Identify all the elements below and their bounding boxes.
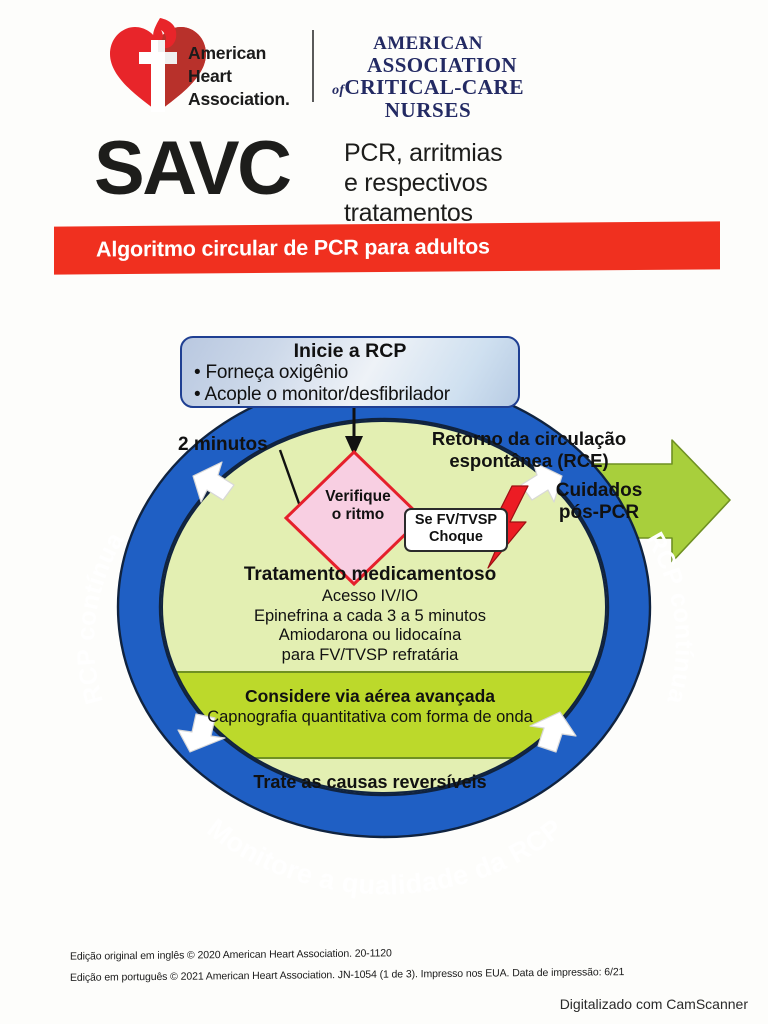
shock-line-2: Choque (404, 529, 508, 546)
start-cpr-bullet-1: • Forneça oxigênio (194, 362, 348, 384)
shock-line-1: Se FV/TVSP (404, 512, 508, 529)
section-banner-label: Algoritmo circular de PCR para adultos (96, 234, 490, 262)
advanced-airway-block: Considere via aérea avançada Capnografia… (184, 686, 556, 727)
advanced-airway-line-1: Capnografia quantitativa com forma de on… (184, 707, 556, 727)
aha-wordmark-line-1: American (188, 42, 290, 65)
aacn-line-3-text: CRITICAL-CARE (344, 75, 524, 99)
start-cpr-bullet-2: • Acople o monitor/desfibrilador (194, 384, 450, 406)
logo-divider (312, 30, 314, 102)
aha-wordmark: American Heart Association. (188, 42, 290, 111)
aacn-line-4: NURSES (328, 99, 528, 121)
aacn-line-3: ofCRITICAL-CARE (328, 76, 528, 99)
page-title: SAVC (94, 131, 290, 207)
rosc-label-line-1: Retorno da circulação (404, 428, 654, 450)
rosc-label: Retorno da circulação espontânea (RCE) (404, 428, 654, 472)
footer-copyright-line-1: Edição original em inglês © 2020 America… (70, 947, 392, 962)
drug-therapy-title: Tratamento medicamentoso (184, 564, 556, 587)
page-subtitle: PCR, arritmias e respectivos tratamentos (344, 138, 502, 228)
start-cpr-title: Inicie a RCP (180, 340, 520, 363)
reversible-causes-block: Trate as causas reversíveis (184, 772, 556, 793)
drug-therapy-line-4: para FV/TVSP refratária (184, 646, 556, 666)
reversible-causes-title: Trate as causas reversíveis (184, 772, 556, 793)
check-rhythm-label: Verifique o ritmo (298, 488, 418, 525)
two-minutes-label: 2 minutos (178, 434, 268, 456)
page-subtitle-line-1: PCR, arritmias (344, 138, 502, 168)
aacn-line-1: AMERICAN (328, 34, 528, 54)
drug-therapy-block: Tratamento medicamentoso Acesso IV/IO Ep… (184, 564, 556, 666)
circular-algorithm-diagram: RCP contínua RCP contínua Monitore a qua… (0, 300, 768, 920)
post-cardiac-arrest-care-label: Cuidados pós-PCR (524, 480, 674, 524)
drug-therapy-line-3: Amiodarona ou lidocaína (184, 626, 556, 646)
drug-therapy-line-1: Acesso IV/IO (184, 587, 556, 607)
logo-band: American Heart Association. AMERICAN ASS… (0, 0, 768, 128)
aacn-wordmark: AMERICAN ASSOCIATION ofCRITICAL-CARE NUR… (328, 34, 528, 121)
aha-wordmark-line-3: Association. (188, 88, 290, 111)
acls-circular-algorithm-page: American Heart Association. AMERICAN ASS… (0, 0, 768, 1024)
camscanner-watermark: Digitalizado com CamScanner (0, 996, 748, 1012)
page-subtitle-line-2: e respectivos (344, 168, 502, 198)
rosc-label-line-2: espontânea (RCE) (404, 450, 654, 472)
advanced-airway-title: Considere via aérea avançada (184, 686, 556, 707)
footer-copyright-line-2: Edição em português © 2021 American Hear… (70, 966, 624, 984)
shock-label: Se FV/TVSP Choque (404, 512, 508, 547)
check-rhythm-line-1: Verifique (298, 488, 418, 506)
check-rhythm-line-2: o ritmo (298, 506, 418, 524)
aacn-line-2: ASSOCIATION (328, 54, 528, 76)
aacn-of-word: of (332, 83, 344, 98)
post-care-line-2: pós-PCR (524, 502, 674, 524)
drug-therapy-line-2: Epinefrina a cada 3 a 5 minutos (184, 607, 556, 627)
post-care-line-1: Cuidados (524, 480, 674, 502)
aha-wordmark-line-2: Heart (188, 65, 290, 88)
